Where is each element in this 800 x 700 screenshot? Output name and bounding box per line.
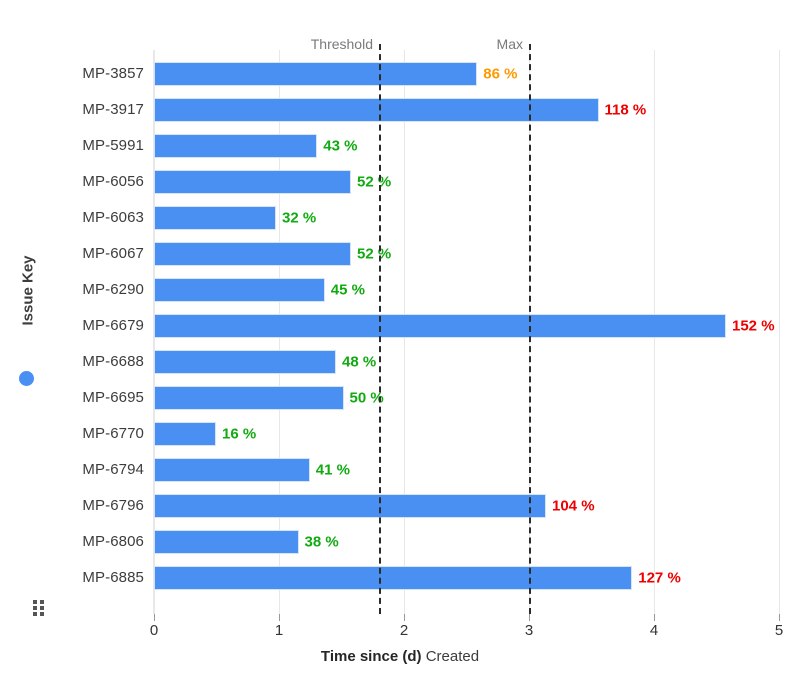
bar-mp-6885[interactable]: 127 % [155, 567, 631, 589]
y-tick-label-mp-3857[interactable]: MP-3857 [82, 56, 144, 92]
bar-row: MP-677016 % [0, 416, 800, 452]
bar-fill[interactable] [155, 315, 725, 337]
bar-row: MP-6885127 % [0, 560, 800, 596]
bar-row: MP-629045 % [0, 272, 800, 308]
bar-fill[interactable] [155, 171, 350, 193]
y-axis-title: Issue Key [20, 251, 37, 331]
bar-mp-6063[interactable]: 32 % [155, 207, 275, 229]
x-tick [404, 614, 405, 621]
y-tick-label-mp-6770[interactable]: MP-6770 [82, 416, 144, 452]
reference-label-threshold: Threshold [311, 36, 379, 52]
y-tick-label-mp-6806[interactable]: MP-6806 [82, 524, 144, 560]
bar-mp-6290[interactable]: 45 % [155, 279, 324, 301]
drag-dot [40, 606, 44, 610]
bar-mp-6695[interactable]: 50 % [155, 387, 343, 409]
y-tick-label-mp-6067[interactable]: MP-6067 [82, 236, 144, 272]
gridline [779, 50, 780, 614]
y-tick-label-mp-3917[interactable]: MP-3917 [82, 92, 144, 128]
bar-row: MP-605652 % [0, 164, 800, 200]
drag-dot [33, 612, 37, 616]
y-tick-label-mp-6794[interactable]: MP-6794 [82, 452, 144, 488]
bar-fill[interactable] [155, 99, 598, 121]
bar-row: MP-606752 % [0, 236, 800, 272]
drag-dot [40, 600, 44, 604]
bar-mp-6806[interactable]: 38 % [155, 531, 298, 553]
x-tick-label: 3 [525, 622, 533, 639]
bar-fill[interactable] [155, 243, 350, 265]
bar-value-label: 152 % [732, 318, 775, 335]
bar-mp-6067[interactable]: 52 % [155, 243, 350, 265]
series-legend-dot-icon[interactable] [19, 371, 34, 386]
bar-row: MP-679441 % [0, 452, 800, 488]
bar-mp-5991[interactable]: 43 % [155, 135, 316, 157]
bar-value-label: 104 % [552, 498, 595, 515]
bar-fill[interactable] [155, 531, 298, 553]
bar-value-label: 118 % [605, 102, 647, 119]
bar-mp-6679[interactable]: 152 % [155, 315, 725, 337]
drag-dot [40, 612, 44, 616]
bar-fill[interactable] [155, 135, 316, 157]
bar-value-label: 41 % [316, 462, 350, 479]
x-tick [654, 614, 655, 621]
y-tick-label-mp-6063[interactable]: MP-6063 [82, 200, 144, 236]
x-axis-title: Time since (d) Created [0, 648, 800, 665]
y-tick-label-mp-6056[interactable]: MP-6056 [82, 164, 144, 200]
bar-row: MP-669550 % [0, 380, 800, 416]
bar-rows: MP-385786 %MP-3917118 %MP-599143 %MP-605… [0, 56, 800, 596]
bar-value-label: 38 % [305, 534, 339, 551]
bar-row: MP-599143 % [0, 128, 800, 164]
bar-row: MP-385786 % [0, 56, 800, 92]
y-tick-label-mp-6290[interactable]: MP-6290 [82, 272, 144, 308]
bar-fill[interactable] [155, 459, 309, 481]
bar-fill[interactable] [155, 495, 545, 517]
bar-value-label: 48 % [342, 354, 376, 371]
y-tick-label-mp-6796[interactable]: MP-6796 [82, 488, 144, 524]
x-tick [779, 614, 780, 621]
bar-value-label: 16 % [222, 426, 256, 443]
bar-row: MP-680638 % [0, 524, 800, 560]
bar-value-label: 45 % [331, 282, 365, 299]
x-tick [529, 614, 530, 621]
bar-value-label: 86 % [483, 66, 517, 83]
bar-row: MP-6796104 % [0, 488, 800, 524]
y-tick-label-mp-5991[interactable]: MP-5991 [82, 128, 144, 164]
y-tick-label-mp-6885[interactable]: MP-6885 [82, 560, 144, 596]
bar-value-label: 52 % [357, 174, 391, 191]
drag-dot [33, 600, 37, 604]
bar-row: MP-668848 % [0, 344, 800, 380]
y-tick-label-mp-6695[interactable]: MP-6695 [82, 380, 144, 416]
reference-line-threshold [379, 44, 381, 614]
x-tick-label: 4 [650, 622, 658, 639]
drag-handle-icon[interactable] [33, 600, 45, 617]
bar-fill[interactable] [155, 351, 335, 373]
reference-label-max: Max [497, 36, 529, 52]
drag-dot [33, 606, 37, 610]
bar-fill[interactable] [155, 207, 275, 229]
bar-value-label: 52 % [357, 246, 391, 263]
bar-fill[interactable] [155, 63, 476, 85]
bar-mp-6794[interactable]: 41 % [155, 459, 309, 481]
y-tick-label-mp-6688[interactable]: MP-6688 [82, 344, 144, 380]
bar-value-label: 127 % [638, 570, 681, 587]
bar-mp-6056[interactable]: 52 % [155, 171, 350, 193]
bar-row: MP-606332 % [0, 200, 800, 236]
bar-fill[interactable] [155, 423, 215, 445]
x-tick [154, 614, 155, 621]
bar-row: MP-6679152 % [0, 308, 800, 344]
bar-mp-6770[interactable]: 16 % [155, 423, 215, 445]
bar-fill[interactable] [155, 387, 343, 409]
reference-line-max [529, 44, 531, 614]
bar-value-label: 32 % [282, 210, 316, 227]
bar-mp-3917[interactable]: 118 % [155, 99, 598, 121]
x-tick-label: 5 [775, 622, 783, 639]
bar-value-label: 43 % [323, 138, 357, 155]
bar-mp-6688[interactable]: 48 % [155, 351, 335, 373]
bar-row: MP-3917118 % [0, 92, 800, 128]
x-axis-title-normal: Created [426, 648, 479, 665]
bar-fill[interactable] [155, 567, 631, 589]
x-axis-title-strong: Time since (d) [321, 648, 422, 665]
x-tick-label: 1 [275, 622, 283, 639]
x-tick [279, 614, 280, 621]
y-tick-label-mp-6679[interactable]: MP-6679 [82, 308, 144, 344]
bar-chart: ThresholdMax MP-385786 %MP-3917118 %MP-5… [0, 0, 800, 700]
x-tick-label: 0 [150, 622, 158, 639]
bar-mp-6796[interactable]: 104 % [155, 495, 545, 517]
x-tick-label: 2 [400, 622, 408, 639]
bar-mp-3857[interactable]: 86 % [155, 63, 476, 85]
bar-fill[interactable] [155, 279, 324, 301]
